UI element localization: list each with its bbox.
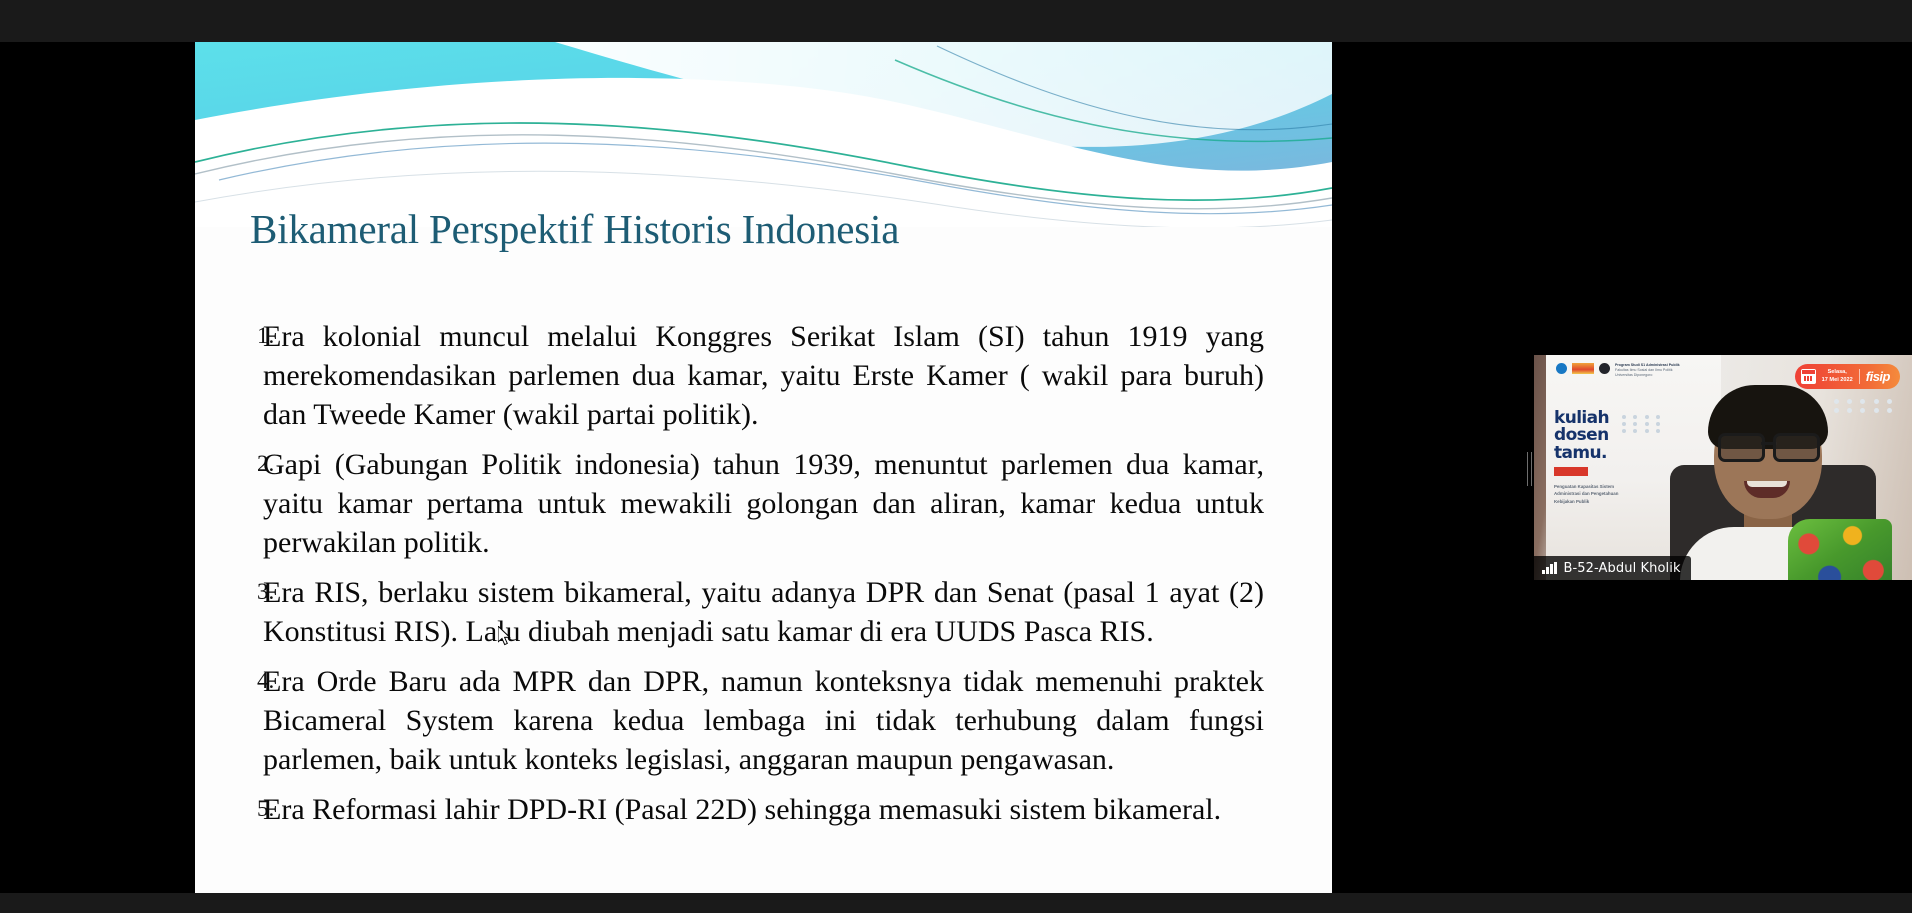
page-title: Bikameral Perspektif Historis Indonesia (250, 205, 1270, 253)
slide-content: 1. Era kolonial muncul melalui Konggres … (195, 317, 1332, 840)
list-item-text: Era Reformasi lahir DPD-RI (Pasal 22D) s… (263, 790, 1332, 829)
backdrop-red-tag (1554, 467, 1588, 476)
slide-header-decoration (195, 42, 1332, 227)
university-emblem-icon (1556, 363, 1567, 374)
slide[interactable]: Bikameral Perspektif Historis Indonesia … (195, 42, 1332, 893)
participant-webcam-person (1652, 377, 1892, 580)
list-item-number: 3. (195, 573, 263, 607)
participant-name-badge: B-52-Abdul Kholik (1534, 556, 1691, 580)
backdrop-logos: Program Studi S1 Administrasi Publik Fak… (1556, 363, 1680, 378)
video-feed: Program Studi S1 Administrasi Publik Fak… (1534, 355, 1912, 580)
undip-seal-icon (1599, 363, 1610, 374)
list-item-text: Gapi (Gabungan Politik indonesia) tahun … (263, 445, 1332, 562)
list-item-number: 1. (195, 317, 263, 351)
list-item-number: 5. (195, 790, 263, 824)
list-item-text: Era Orde Baru ada MPR dan DPR, namun kon… (263, 662, 1332, 779)
presentation-viewer: Bikameral Perspektif Historis Indonesia … (0, 0, 1912, 913)
backdrop-org-text: Program Studi S1 Administrasi Publik Fak… (1615, 363, 1680, 378)
list-item: 4. Era Orde Baru ada MPR dan DPR, namun … (195, 662, 1332, 779)
kampus-merdeka-logo-icon (1572, 363, 1594, 374)
list-item-number: 2. (195, 445, 263, 479)
list-item-number: 4. (195, 662, 263, 696)
list-item: 1. Era kolonial muncul melalui Konggres … (195, 317, 1332, 434)
list-item: 5. Era Reformasi lahir DPD-RI (Pasal 22D… (195, 790, 1332, 829)
batik-shape (1788, 519, 1892, 580)
signal-strength-icon (1542, 562, 1557, 574)
list-item: 2. Gapi (Gabungan Politik indonesia) tah… (195, 445, 1332, 562)
participant-video-tile[interactable]: Program Studi S1 Administrasi Publik Fak… (1534, 355, 1912, 580)
glasses-icon (1718, 433, 1820, 456)
backdrop-headline: kuliah dosen tamu. (1554, 410, 1609, 462)
list-item-text: Era kolonial muncul melalui Konggres Ser… (263, 317, 1332, 434)
panel-drag-handle[interactable] (1524, 452, 1534, 486)
backdrop-subtitle-text: Penguatan Kapasitas Sistem Administrasi … (1554, 483, 1618, 505)
list-item-text: Era RIS, berlaku sistem bikameral, yaitu… (263, 573, 1332, 651)
bullet-list: 1. Era kolonial muncul melalui Konggres … (195, 317, 1332, 829)
list-item: 3. Era RIS, berlaku sistem bikameral, ya… (195, 573, 1332, 651)
participant-name-label: B-52-Abdul Kholik (1564, 561, 1681, 576)
